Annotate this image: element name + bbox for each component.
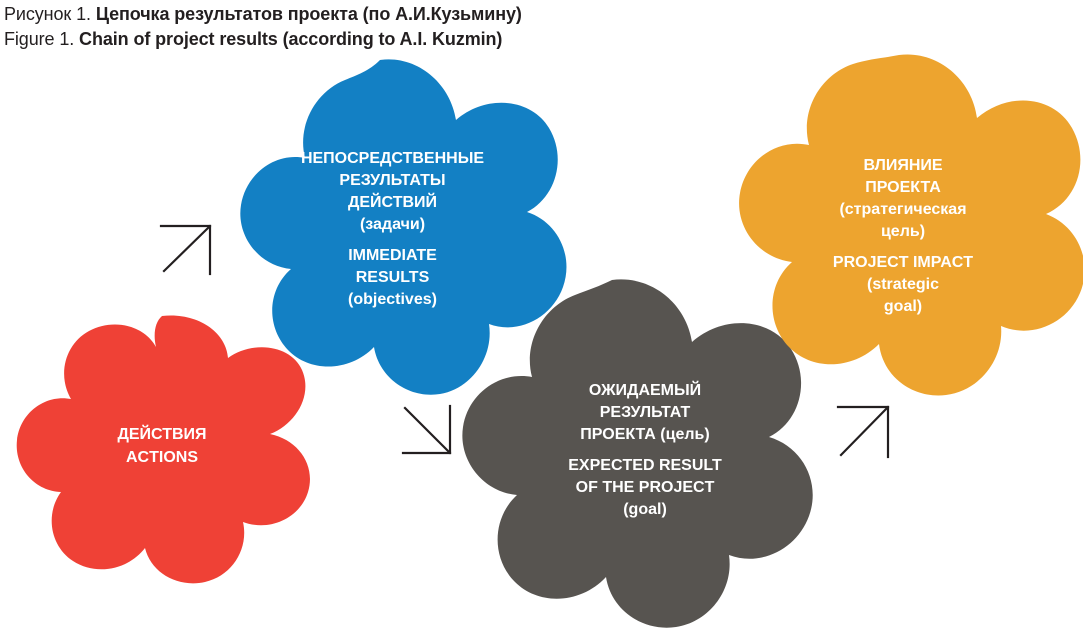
flower-shape-project-impact xyxy=(739,54,1083,395)
arrow-expected-to-impact xyxy=(838,407,888,457)
node-expected-result[interactable] xyxy=(462,279,812,627)
flower-shape-actions xyxy=(17,315,310,583)
arrow-actions-to-immediate xyxy=(161,226,210,274)
arrow-shaft xyxy=(405,408,449,452)
node-actions[interactable] xyxy=(17,315,310,583)
node-project-impact[interactable] xyxy=(739,54,1083,395)
arrow-shaft xyxy=(841,408,887,455)
arrow-immediate-to-expected xyxy=(403,406,450,453)
arrow-shaft xyxy=(164,227,209,271)
figure-root: Рисунок 1. Цепочка результатов проекта (… xyxy=(0,0,1083,629)
flower-shape-immediate-results xyxy=(240,59,566,394)
node-immediate-results[interactable] xyxy=(240,59,566,394)
flower-shape-expected-result xyxy=(462,279,812,627)
diagram-canvas xyxy=(0,0,1083,629)
